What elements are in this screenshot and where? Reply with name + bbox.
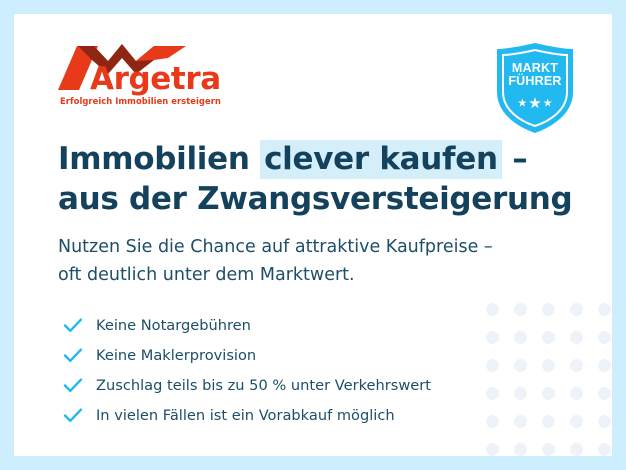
headline-highlight: clever kaufen <box>260 140 502 179</box>
badge-star-icon: ★ <box>517 97 527 109</box>
shield-icon <box>494 42 576 134</box>
decorative-dot <box>486 443 499 456</box>
badge-star-icon: ★ <box>543 97 553 109</box>
badge-star-icon: ★ <box>528 95 541 112</box>
decorative-dot <box>598 415 611 428</box>
decorative-dot <box>542 359 555 372</box>
decorative-dot <box>570 415 583 428</box>
benefit-item: Zuschlag teils bis zu 50 % unter Verkehr… <box>62 370 532 400</box>
decorative-dot <box>542 387 555 400</box>
decorative-dot <box>598 387 611 400</box>
decorative-dot <box>598 443 611 456</box>
decorative-dot <box>570 387 583 400</box>
decorative-dot <box>598 303 611 316</box>
decorative-dot <box>542 443 555 456</box>
decorative-dot <box>598 359 611 372</box>
benefit-label: Keine Notargebühren <box>96 317 251 334</box>
headline-prefix: Immobilien <box>58 141 260 177</box>
decorative-dot <box>514 443 527 456</box>
decorative-dot <box>570 443 583 456</box>
check-icon <box>62 374 84 396</box>
benefit-item: Keine Maklerprovision <box>62 340 532 370</box>
benefit-item: Keine Notargebühren <box>62 310 532 340</box>
benefit-label: Zuschlag teils bis zu 50 % unter Verkehr… <box>96 377 431 394</box>
benefit-item: In vielen Fällen ist ein Vorabkauf mögli… <box>62 400 532 430</box>
promo-card: Argetra Erfolgreich Immobilien ersteiger… <box>14 14 612 456</box>
check-icon <box>62 314 84 336</box>
benefit-label: Keine Maklerprovision <box>96 347 256 364</box>
badge-line-1: MARKT <box>494 62 576 75</box>
logo-tagline: Erfolgreich Immobilien ersteigern <box>60 96 221 106</box>
decorative-dot <box>542 331 555 344</box>
badge-stars: ★★★ <box>494 96 576 112</box>
badge-line-2: FÜHRER <box>494 75 576 88</box>
decorative-dot <box>570 331 583 344</box>
logo-wordmark: Argetra <box>90 64 221 95</box>
badge-text: MARKT FÜHRER <box>494 62 576 88</box>
decorative-dot <box>570 359 583 372</box>
decorative-dot <box>542 303 555 316</box>
decorative-dot <box>598 331 611 344</box>
headline-line-1: Immobilien clever kaufen – <box>58 140 538 180</box>
subheading-line-1: Nutzen Sie die Chance auf attraktive Kau… <box>58 233 558 261</box>
headline-line-2: aus der Zwangsversteigerung <box>58 180 538 220</box>
subheading-line-2: oft deutlich unter dem Marktwert. <box>58 261 558 289</box>
market-leader-badge: MARKT FÜHRER ★★★ <box>494 42 576 134</box>
headline-suffix: – <box>502 141 528 177</box>
check-icon <box>62 404 84 426</box>
card-header: Argetra Erfolgreich Immobilien ersteiger… <box>14 14 612 134</box>
benefit-label: In vielen Fällen ist ein Vorabkauf mögli… <box>96 407 395 424</box>
subheading: Nutzen Sie die Chance auf attraktive Kau… <box>58 233 558 290</box>
decorative-dot <box>570 303 583 316</box>
check-icon <box>62 344 84 366</box>
decorative-dot <box>542 415 555 428</box>
benefits-list: Keine NotargebührenKeine Maklerprovision… <box>62 310 532 430</box>
argetra-logo[interactable]: Argetra Erfolgreich Immobilien ersteiger… <box>58 44 248 120</box>
page-title: Immobilien clever kaufen – aus der Zwang… <box>58 140 538 219</box>
